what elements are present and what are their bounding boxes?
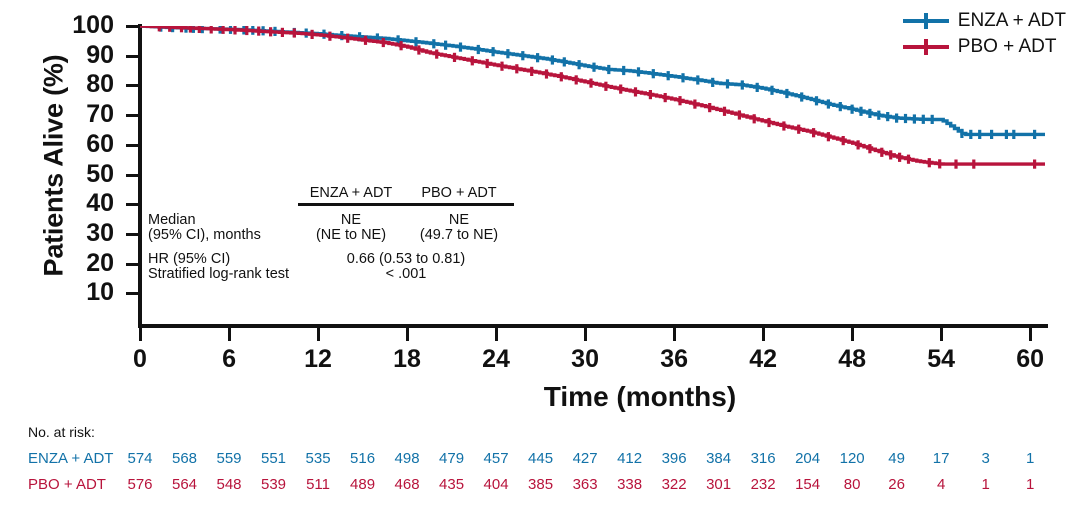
y-tick-70 — [126, 114, 139, 117]
legend-line-icon — [903, 38, 949, 56]
legend-label: PBO + ADT — [958, 36, 1057, 58]
y-tick-20 — [126, 263, 139, 266]
x-tick-0 — [139, 328, 142, 341]
risk-table-row: PBO + ADT5765645485395114894684354043853… — [0, 476, 1080, 498]
hr-row: HR (95% CI) 0.66 (0.53 to 0.81) — [148, 252, 514, 268]
x-tick-6 — [228, 328, 231, 341]
x-tick-label-6: 6 — [199, 345, 259, 374]
y-tick-label-80: 80 — [52, 72, 114, 97]
legend-item-pbo-adt[interactable]: PBO + ADT — [903, 34, 1066, 60]
legend-line-icon — [903, 12, 949, 30]
median-enza-value: NE — [298, 213, 404, 229]
x-tick-54 — [940, 328, 943, 341]
median-enza-ci: (NE to NE) — [298, 228, 404, 244]
risk-value: 1 — [1000, 476, 1060, 493]
y-tick-label-10: 10 — [52, 280, 114, 305]
y-tick-50 — [126, 174, 139, 177]
median-label-line1: Median — [148, 213, 298, 229]
x-tick-label-0: 0 — [110, 345, 170, 374]
y-tick-label-100: 100 — [52, 13, 114, 38]
x-tick-label-24: 24 — [466, 345, 526, 374]
x-axis-title-text: Time (months) — [544, 381, 736, 412]
x-tick-label-12: 12 — [288, 345, 348, 374]
statistics-annotation: ENZA + ADT PBO + ADT Median NE NE (95% C… — [148, 186, 514, 283]
risk-table-row: ENZA + ADT574568559551535516498479457445… — [0, 450, 1080, 472]
statistics-table: ENZA + ADT PBO + ADT — [148, 186, 514, 202]
median-pbo-value: NE — [404, 213, 514, 229]
risk-table-title: No. at risk: — [28, 424, 95, 440]
statistics-rule — [298, 203, 514, 206]
y-tick-label-70: 70 — [52, 102, 114, 127]
legend: ENZA + ADTPBO + ADT — [903, 8, 1066, 60]
y-tick-label-30: 30 — [52, 221, 114, 246]
x-tick-label-48: 48 — [822, 345, 882, 374]
y-tick-label-50: 50 — [52, 162, 114, 187]
risk-row-label: ENZA + ADT — [28, 450, 113, 467]
y-tick-label-20: 20 — [52, 251, 114, 276]
y-tick-label-40: 40 — [52, 191, 114, 216]
x-tick-label-36: 36 — [644, 345, 704, 374]
y-tick-label-90: 90 — [52, 43, 114, 68]
logrank-value: < .001 — [298, 267, 514, 283]
x-tick-label-42: 42 — [733, 345, 793, 374]
statistics-header-blank — [148, 186, 298, 202]
x-tick-18 — [406, 328, 409, 341]
y-tick-80 — [126, 84, 139, 87]
y-tick-90 — [126, 55, 139, 58]
x-tick-36 — [673, 328, 676, 341]
y-tick-30 — [126, 233, 139, 236]
logrank-row: Stratified log-rank test < .001 — [148, 267, 514, 283]
y-tick-10 — [126, 292, 139, 295]
hr-label: HR (95% CI) — [148, 252, 298, 268]
median-row-1: Median NE NE — [148, 213, 514, 229]
statistics-header-row: ENZA + ADT PBO + ADT — [148, 186, 514, 202]
median-row-2: (95% CI), months (NE to NE) (49.7 to NE) — [148, 228, 514, 244]
x-tick-24 — [495, 328, 498, 341]
x-tick-48 — [851, 328, 854, 341]
x-tick-12 — [317, 328, 320, 341]
hr-value: 0.66 (0.53 to 0.81) — [298, 252, 514, 268]
legend-item-enza-adt[interactable]: ENZA + ADT — [903, 8, 1066, 34]
median-label-line2: (95% CI), months — [148, 228, 298, 244]
y-tick-40 — [126, 203, 139, 206]
risk-value: 1 — [1000, 450, 1060, 467]
y-tick-60 — [126, 144, 139, 147]
x-tick-label-54: 54 — [911, 345, 971, 374]
logrank-label: Stratified log-rank test — [148, 267, 298, 283]
x-axis-title: Time (months) — [0, 381, 1080, 413]
statistics-body: Median NE NE (95% CI), months (NE to NE)… — [148, 213, 514, 283]
x-tick-60 — [1029, 328, 1032, 341]
x-tick-label-30: 30 — [555, 345, 615, 374]
statistics-header-enza: ENZA + ADT — [298, 186, 404, 202]
x-tick-42 — [762, 328, 765, 341]
x-tick-label-18: 18 — [377, 345, 437, 374]
legend-label: ENZA + ADT — [958, 10, 1066, 32]
risk-row-label: PBO + ADT — [28, 476, 106, 493]
y-tick-label-60: 60 — [52, 132, 114, 157]
kaplan-meier-figure: Patients Alive (%) 102030405060708090100… — [0, 0, 1080, 517]
median-pbo-ci: (49.7 to NE) — [404, 228, 514, 244]
x-tick-label-60: 60 — [1000, 345, 1060, 374]
statistics-header-pbo: PBO + ADT — [404, 186, 514, 202]
y-tick-100 — [126, 25, 139, 28]
x-tick-30 — [584, 328, 587, 341]
